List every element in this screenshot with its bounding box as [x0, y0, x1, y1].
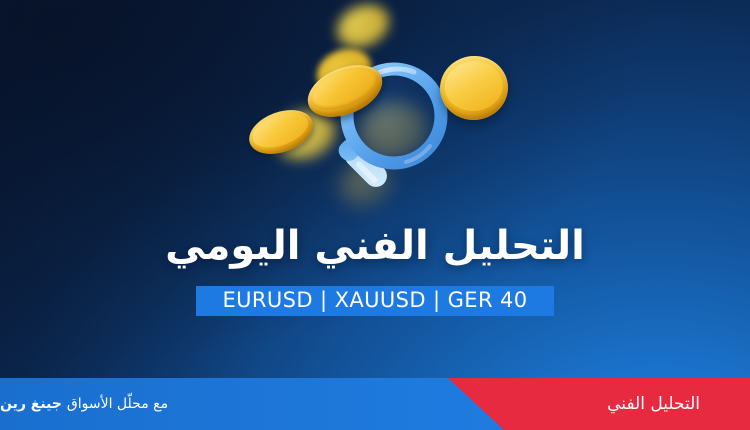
analyst-name: جينغ رين	[0, 394, 62, 414]
banner-canvas: التحليل الفني اليومي EURUSD | XAUUSD | G…	[0, 0, 750, 430]
footer-bar: مع محلّل الأسواق جينغ رين التحليل الفني	[0, 378, 750, 430]
gold-coin-icon	[330, 0, 396, 55]
section-label: التحليل الفني	[607, 378, 700, 430]
instruments-badge-wrapper: EURUSD | XAUUSD | GER 40	[0, 286, 750, 316]
analyst-credit: مع محلّل الأسواق جينغ رين	[0, 378, 240, 430]
analyst-label: مع محلّل الأسواق	[67, 394, 168, 414]
hero-illustration	[250, 0, 520, 214]
page-title: التحليل الفني اليومي	[0, 222, 750, 270]
instruments-badge: EURUSD | XAUUSD | GER 40	[196, 286, 553, 316]
